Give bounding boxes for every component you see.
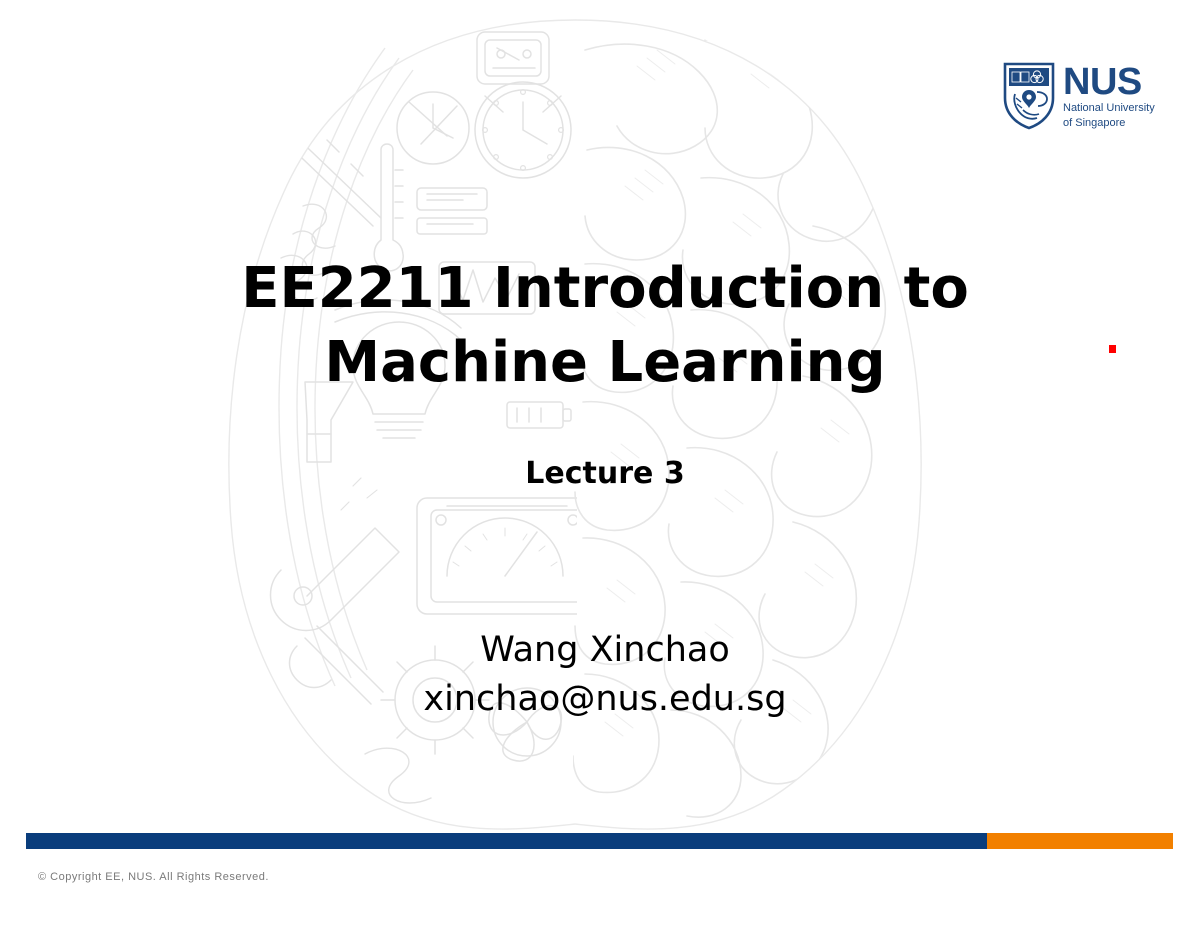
red-dot-marker — [1109, 345, 1116, 353]
footer-bar-primary — [26, 833, 987, 849]
title-line-1: EE2211 Introduction to — [140, 252, 1070, 326]
nus-wordmark: NUS National University of Singapore — [1063, 62, 1155, 130]
nus-acronym: NUS — [1063, 64, 1155, 100]
author-email: xinchao@nus.edu.sg — [140, 675, 1070, 724]
author-block: Wang Xinchao xinchao@nus.edu.sg — [140, 626, 1070, 724]
subtitle: Lecture 3 — [140, 455, 1070, 493]
page-title: EE2211 Introduction to Machine Learning — [140, 252, 1070, 400]
subtitle-text: Lecture 3 — [140, 455, 1070, 493]
title-slide: NUS National University of Singapore EE2… — [0, 0, 1200, 927]
copyright-notice: © Copyright EE, NUS. All Rights Reserved… — [38, 871, 269, 883]
nus-tagline-line2: of Singapore — [1063, 117, 1155, 130]
footer-bar-accent — [987, 833, 1173, 849]
nus-logo: NUS National University of Singapore — [1003, 62, 1173, 134]
title-line-2: Machine Learning — [140, 326, 1070, 400]
nus-shield-icon — [1003, 62, 1055, 130]
nus-tagline-line1: National University — [1063, 102, 1155, 115]
author-name: Wang Xinchao — [140, 626, 1070, 675]
